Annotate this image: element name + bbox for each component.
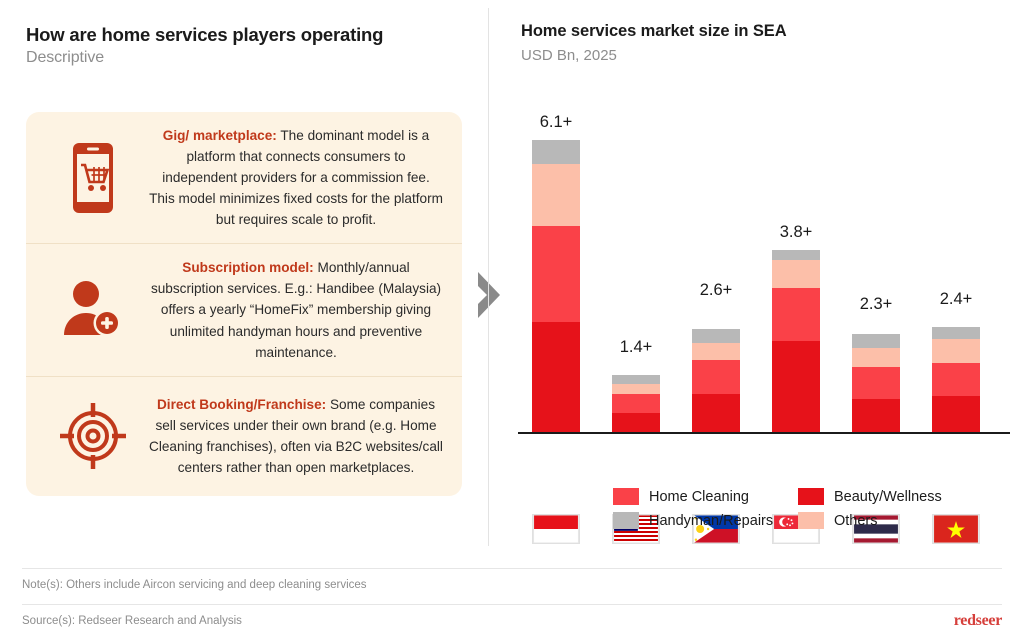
target-icon	[38, 401, 148, 471]
legend-swatch	[798, 488, 824, 505]
x-axis-line	[518, 432, 1010, 434]
bar-segment-beauty-wellness[interactable]	[932, 396, 980, 432]
footer-divider-top	[22, 568, 1002, 569]
list-item-text: Subscription model: Monthly/annual subsc…	[148, 257, 444, 362]
bar-value-label: 2.4+	[916, 290, 996, 309]
bar-segment-home-cleaning[interactable]	[772, 288, 820, 341]
bar-group-indonesia[interactable]: 6.1+	[532, 140, 580, 432]
bar-segment-beauty-wellness[interactable]	[852, 399, 900, 433]
list-item-subscription-model[interactable]: Subscription model: Monthly/annual subsc…	[26, 243, 462, 375]
bar-segment-handyman-repairs[interactable]	[612, 375, 660, 385]
chart-panel: Home services market size in SEA USD Bn,…	[488, 0, 1024, 560]
bar-segment-beauty-wellness[interactable]	[692, 394, 740, 432]
bar-segment-beauty-wellness[interactable]	[772, 341, 820, 432]
page-title: How are home services players operating	[26, 24, 383, 46]
bar-malaysia[interactable]	[612, 375, 660, 432]
page-subtitle: Descriptive	[26, 49, 104, 67]
bar-thailand[interactable]	[852, 334, 900, 432]
bar-segment-beauty-wellness[interactable]	[532, 322, 580, 432]
user-add-icon	[38, 277, 148, 343]
left-panel: How are home services players operating …	[0, 0, 488, 560]
bar-segment-others[interactable]	[852, 348, 900, 367]
legend-item-others[interactable]: Others	[798, 512, 983, 529]
footer-divider-bottom	[22, 604, 1002, 605]
bar-group-thailand[interactable]: 2.3+	[852, 334, 900, 432]
bar-segment-others[interactable]	[692, 343, 740, 360]
bar-value-label: 3.8+	[756, 223, 836, 242]
legend-swatch	[613, 488, 639, 505]
bar-philippines[interactable]	[692, 329, 740, 432]
chart-subtitle: USD Bn, 2025	[521, 47, 617, 64]
bar-group-singapore[interactable]: 3.8+	[772, 250, 820, 432]
stacked-bar-chart: 6.1+1.4+2.6+3.8+2.3+2.4+	[518, 80, 1010, 440]
bar-segment-handyman-repairs[interactable]	[772, 250, 820, 260]
bar-segment-home-cleaning[interactable]	[852, 367, 900, 398]
list-item-gig-marketplace[interactable]: Gig/ marketplace: The dominant model is …	[26, 112, 462, 243]
legend-label: Others	[834, 513, 878, 529]
legend-label: Home Cleaning	[649, 489, 749, 505]
bar-group-malaysia[interactable]: 1.4+	[612, 375, 660, 432]
legend-label: Beauty/Wellness	[834, 489, 942, 505]
list-item-lead: Direct Booking/Franchise:	[157, 397, 326, 412]
chart-legend: Home CleaningBeauty/WellnessHandyman/Rep…	[613, 488, 1013, 529]
list-item-text: Direct Booking/Franchise: Some companies…	[148, 394, 444, 478]
bar-segment-others[interactable]	[932, 339, 980, 363]
bar-value-label: 2.6+	[676, 281, 756, 300]
chart-title: Home services market size in SEA	[521, 22, 787, 41]
bar-segment-others[interactable]	[612, 384, 660, 394]
bar-segment-others[interactable]	[532, 164, 580, 226]
bar-segment-beauty-wellness[interactable]	[612, 413, 660, 432]
bar-group-philippines[interactable]: 2.6+	[692, 329, 740, 432]
legend-item-beauty-wellness[interactable]: Beauty/Wellness	[798, 488, 983, 505]
bar-segment-home-cleaning[interactable]	[932, 363, 980, 397]
source-text: Source(s): Redseer Research and Analysis	[22, 615, 242, 627]
note-text: Note(s): Others include Aircon servicing…	[22, 579, 367, 591]
legend-item-handyman-repairs[interactable]: Handyman/Repairs	[613, 512, 798, 529]
legend-label: Handyman/Repairs	[649, 513, 773, 529]
mobile-cart-icon	[38, 141, 148, 215]
list-item-direct-booking-franchise[interactable]: Direct Booking/Franchise: Some companies…	[26, 376, 462, 496]
bar-segment-home-cleaning[interactable]	[692, 360, 740, 394]
bar-segment-handyman-repairs[interactable]	[692, 329, 740, 343]
bar-indonesia[interactable]	[532, 140, 580, 432]
bar-group-vietnam[interactable]: 2.4+	[932, 327, 980, 432]
bar-vietnam[interactable]	[932, 327, 980, 432]
legend-item-home-cleaning[interactable]: Home Cleaning	[613, 488, 798, 505]
list-item-lead: Subscription model:	[182, 260, 313, 275]
bar-segment-handyman-repairs[interactable]	[932, 327, 980, 339]
list-item-text: Gig/ marketplace: The dominant model is …	[148, 125, 444, 230]
bar-value-label: 1.4+	[596, 338, 676, 357]
bar-segment-others[interactable]	[772, 260, 820, 289]
footer: Note(s): Others include Aircon servicing…	[0, 560, 1024, 630]
operating-models-card-list: Gig/ marketplace: The dominant model is …	[26, 112, 462, 496]
list-item-lead: Gig/ marketplace:	[163, 128, 277, 143]
bar-segment-home-cleaning[interactable]	[532, 226, 580, 322]
indonesia-flag	[532, 514, 580, 544]
bar-value-label: 2.3+	[836, 295, 916, 314]
bar-segment-home-cleaning[interactable]	[612, 394, 660, 413]
legend-swatch	[798, 512, 824, 529]
bar-segment-handyman-repairs[interactable]	[852, 334, 900, 348]
redseer-logo: redseer	[954, 612, 1002, 630]
bar-singapore[interactable]	[772, 250, 820, 432]
bar-segment-handyman-repairs[interactable]	[532, 140, 580, 164]
bar-value-label: 6.1+	[516, 113, 596, 132]
legend-swatch	[613, 512, 639, 529]
